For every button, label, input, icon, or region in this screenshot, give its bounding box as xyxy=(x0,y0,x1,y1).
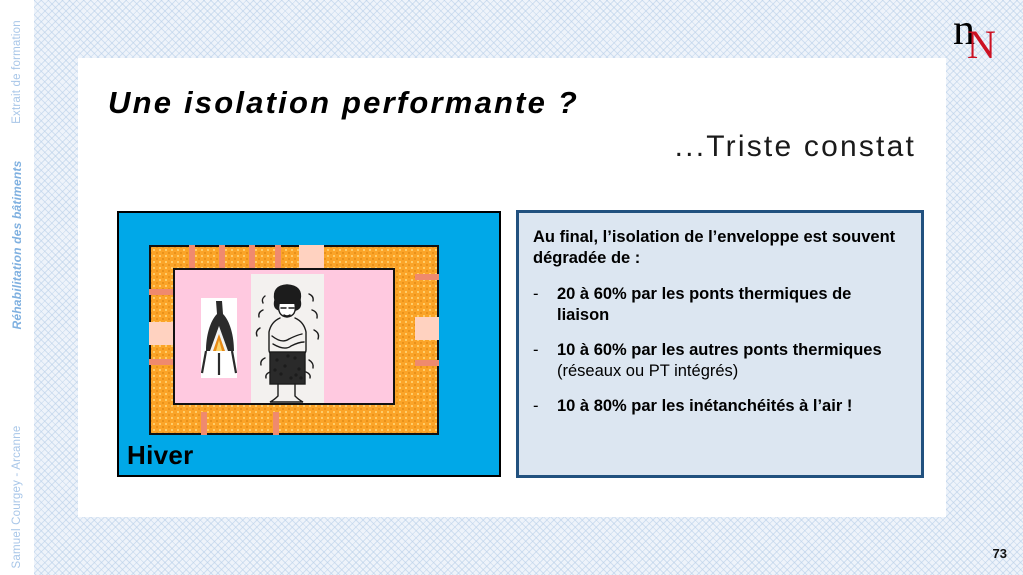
bullet-text: 10 à 80% par les inétanchéités à l’air ! xyxy=(557,396,852,417)
thermal-bridge-mark-pale xyxy=(415,317,439,340)
thermal-bridge-mark xyxy=(149,359,173,365)
bullet-plain: (réseaux ou PT intégrés) xyxy=(557,362,738,380)
thermal-bridge-mark xyxy=(249,245,255,268)
person-backdrop xyxy=(251,274,324,405)
list-item: - 20 à 60% par les ponts thermiques de l… xyxy=(533,284,907,327)
thermal-bridge-mark-pale xyxy=(299,245,324,268)
summary-box: Au final, l’isolation de l’enveloppe est… xyxy=(516,210,924,478)
list-item: - 10 à 80% par les inétanchéités à l’air… xyxy=(533,396,907,417)
page-number: 73 xyxy=(993,546,1007,561)
arcanne-logo: n N xyxy=(953,10,1017,62)
thermal-bridge-mark xyxy=(189,245,195,268)
shivering-person-icon xyxy=(251,274,324,405)
summary-lead: Au final, l’isolation de l’enveloppe est… xyxy=(533,227,907,270)
thermal-bridge-mark xyxy=(149,289,173,295)
bullet-bold: 10 à 60% par les autres ponts thermiques xyxy=(557,341,882,359)
bullet-dash: - xyxy=(533,396,557,417)
interior-room xyxy=(173,268,395,405)
sidebar-label-theme: Réhabilitation des bâtiments xyxy=(10,161,24,330)
page-subtitle: ...Triste constat xyxy=(675,130,916,164)
season-label: Hiver xyxy=(127,440,194,471)
logo-svg: n N xyxy=(953,10,1017,62)
list-item: - 10 à 60% par les autres ponts thermiqu… xyxy=(533,340,907,383)
logo-red-n: N xyxy=(967,22,996,62)
bullet-text: 20 à 60% par les ponts thermiques de lia… xyxy=(557,284,907,327)
stove-backdrop xyxy=(201,298,237,378)
thermal-bridge-mark xyxy=(415,274,439,280)
thermal-bridge-mark xyxy=(219,245,225,268)
thermal-bridge-mark xyxy=(201,412,207,435)
insulation-layer xyxy=(149,245,439,435)
thermal-bridge-mark xyxy=(415,360,439,366)
bullet-bold: 20 à 60% par les ponts thermiques de lia… xyxy=(557,285,851,324)
bullet-dash: - xyxy=(533,284,557,305)
wood-stove-icon xyxy=(201,298,237,378)
bullet-dash: - xyxy=(533,340,557,361)
slide-panel: Une isolation performante ? ...Triste co… xyxy=(78,58,946,517)
page-title: Une isolation performante ? xyxy=(108,85,579,121)
sidebar-label-extrait: Extrait de formation xyxy=(11,20,23,124)
thermal-bridge-mark-pale xyxy=(149,322,173,345)
winter-diagram: Hiver xyxy=(117,211,501,477)
thermal-bridge-mark xyxy=(273,412,279,435)
thermal-bridge-mark xyxy=(275,245,281,268)
bullet-text: 10 à 60% par les autres ponts thermiques… xyxy=(557,340,907,383)
sidebar-label-author: Samuel Courgey - Arcanne xyxy=(11,426,23,569)
bullet-bold: 10 à 80% par les inétanchéités à l’air ! xyxy=(557,397,852,415)
sidebar-strip: Extrait de formation Réhabilitation des … xyxy=(0,0,34,575)
